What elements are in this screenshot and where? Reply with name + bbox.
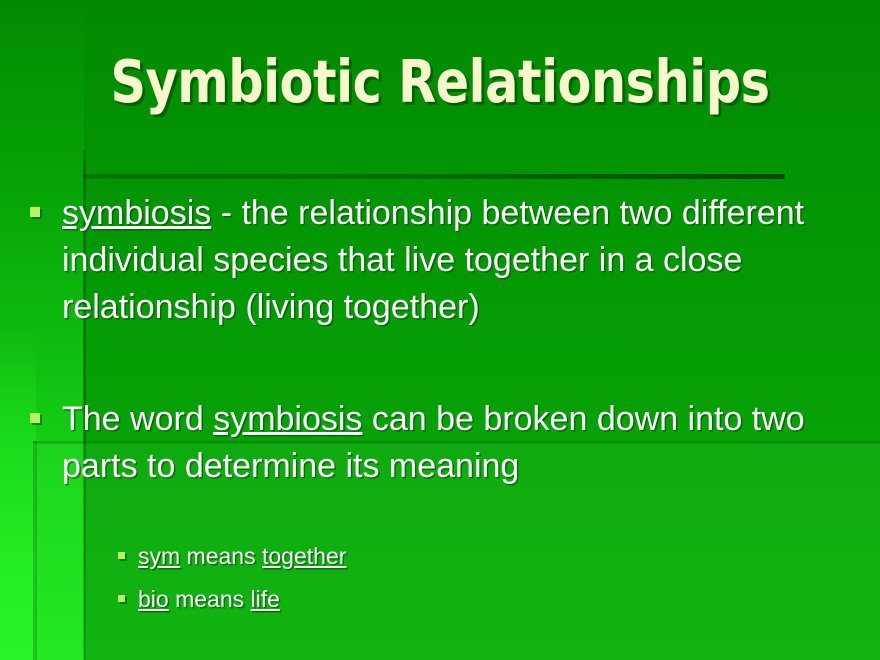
underlined-term: together xyxy=(262,543,346,569)
underlined-term: symbiosis xyxy=(213,400,362,438)
square-bullet-icon xyxy=(118,552,125,559)
square-bullet-icon xyxy=(118,595,125,602)
underlined-term: sym xyxy=(138,543,180,569)
sub-bullet-item-1-text: sym means together xyxy=(138,541,346,572)
square-bullet-icon xyxy=(30,207,40,217)
bullet-item-1-text: symbiosis - the relationship between two… xyxy=(62,190,850,331)
underlined-term: symbiosis xyxy=(62,194,211,232)
bullet-item-2: The word symbiosis can be broken down in… xyxy=(30,396,850,490)
underlined-term: life xyxy=(251,586,280,612)
sub-bullet-item-2-text: bio means life xyxy=(138,584,280,615)
text-run: means xyxy=(169,586,251,612)
text-run: The word xyxy=(62,400,213,438)
square-bullet-icon xyxy=(30,413,40,423)
sub-bullet-item-2: bio means life xyxy=(118,584,858,615)
bullet-item-2-text: The word symbiosis can be broken down in… xyxy=(62,396,850,490)
text-run: means xyxy=(180,543,262,569)
presentation-slide: Symbiotic Relationships symbiosis - the … xyxy=(0,0,880,660)
slide-body: symbiosis - the relationship between two… xyxy=(0,0,880,660)
sub-bullet-item-1: sym means together xyxy=(118,541,858,572)
bullet-item-1: symbiosis - the relationship between two… xyxy=(30,190,850,331)
underlined-term: bio xyxy=(138,586,169,612)
